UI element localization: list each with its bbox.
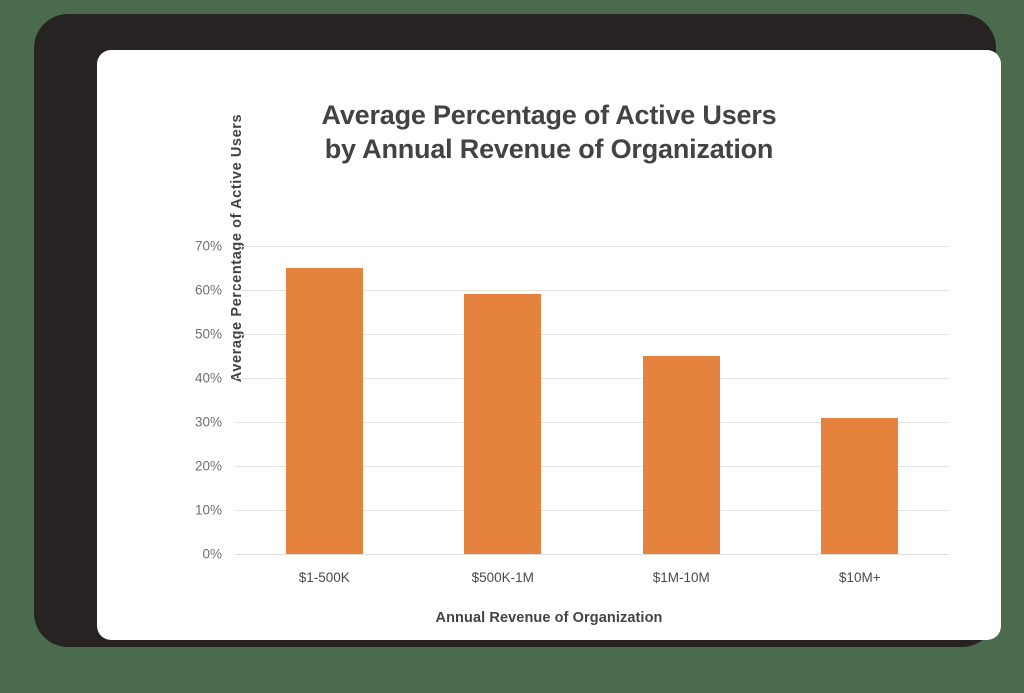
chart-canvas: Average Percentage of Active Users by An… [97,50,1001,640]
y-axis-tick-label: 10% [195,503,222,518]
y-axis-tick-label: 50% [195,327,222,342]
bar [286,268,363,554]
y-axis-tick-label: 30% [195,415,222,430]
device-bezel: Average Percentage of Active Users by An… [34,14,996,647]
x-axis-tick-label: $10M+ [839,570,881,585]
bar-series [235,246,949,554]
y-axis-tick-label: 40% [195,371,222,386]
y-axis-tick-label: 0% [202,547,222,562]
x-axis-tick-label: $1-500K [299,570,350,585]
x-axis-title: Annual Revenue of Organization [97,610,1001,626]
gridline: 0% [235,554,949,555]
x-axis-tick-label: $1M-10M [653,570,710,585]
bar [821,418,898,554]
screenshot-root: Average Percentage of Active Users by An… [0,0,1024,693]
bar [464,294,541,554]
x-axis-tick-label: $500K-1M [472,570,534,585]
y-axis-tick-label: 60% [195,283,222,298]
y-axis-tick-label: 20% [195,459,222,474]
plot-area: 0%10%20%30%40%50%60%70% $1-500K$500K-1M$… [235,246,949,554]
y-axis-tick-label: 70% [195,239,222,254]
bar [643,356,720,554]
